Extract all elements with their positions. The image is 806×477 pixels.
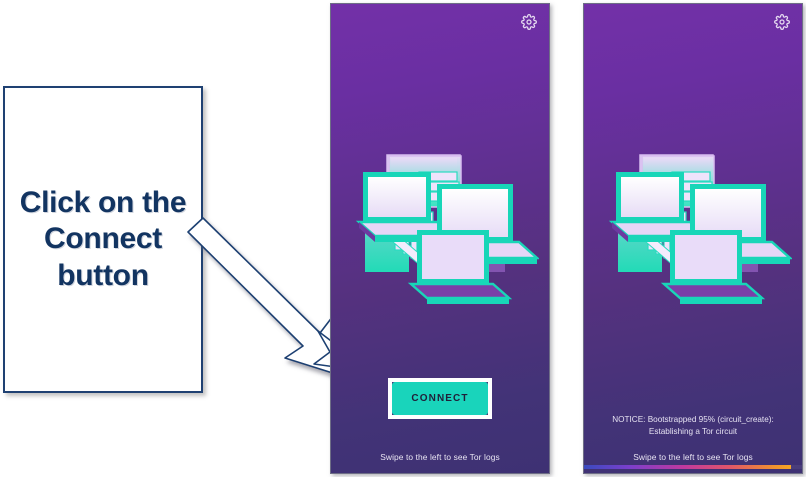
instruction-callout: Click on the Connect button [3, 86, 203, 393]
tor-laptops-illustration [341, 132, 539, 312]
connect-button-highlight: CONNECT [388, 378, 492, 419]
tor-browser-bootstrapping-screen: NOTICE: Bootstrapped 95% (circuit_create… [583, 3, 803, 474]
bootstrap-progress-bar [584, 465, 802, 469]
tor-browser-connect-screen: CONNECT Swipe to the left to see Tor log… [330, 3, 550, 474]
tor-laptops-illustration [594, 132, 792, 312]
gear-icon[interactable] [521, 14, 537, 30]
bootstrap-status-text: NOTICE: Bootstrapped 95% (circuit_create… [596, 414, 790, 438]
gear-icon[interactable] [774, 14, 790, 30]
instruction-text: Click on the Connect button [5, 185, 201, 295]
bootstrap-progress-fill [584, 465, 791, 469]
connect-button[interactable]: CONNECT [392, 382, 488, 415]
swipe-hint-text: Swipe to the left to see Tor logs [331, 452, 549, 462]
swipe-hint-text: Swipe to the left to see Tor logs [584, 452, 802, 462]
